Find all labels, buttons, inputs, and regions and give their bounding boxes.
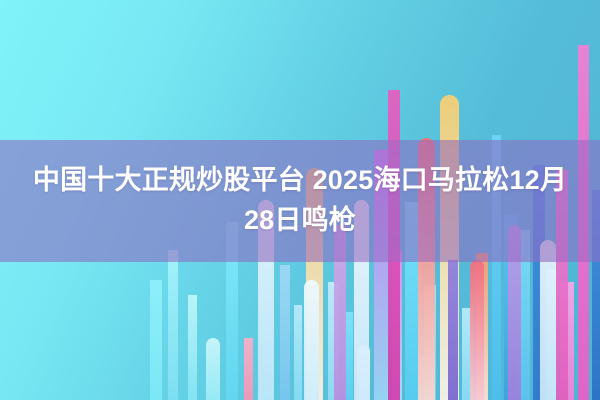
chart-bar xyxy=(448,260,458,400)
banner-image: 中国十大正规炒股平台 2025海口马拉松12月28日鸣枪 xyxy=(0,0,600,400)
caption-band: 中国十大正规炒股平台 2025海口马拉松12月28日鸣枪 xyxy=(0,140,600,262)
chart-bar xyxy=(540,240,556,400)
chart-bar xyxy=(206,338,220,400)
chart-bar xyxy=(188,295,197,400)
chart-bar xyxy=(304,280,319,400)
chart-bar xyxy=(294,305,302,400)
chart-bar xyxy=(280,265,290,400)
chart-bar xyxy=(168,250,178,400)
chart-bar xyxy=(244,338,253,400)
chart-bar xyxy=(470,260,484,400)
banner-caption: 中国十大正规炒股平台 2025海口马拉松12月28日鸣枪 xyxy=(20,161,580,241)
chart-bar xyxy=(150,280,162,400)
